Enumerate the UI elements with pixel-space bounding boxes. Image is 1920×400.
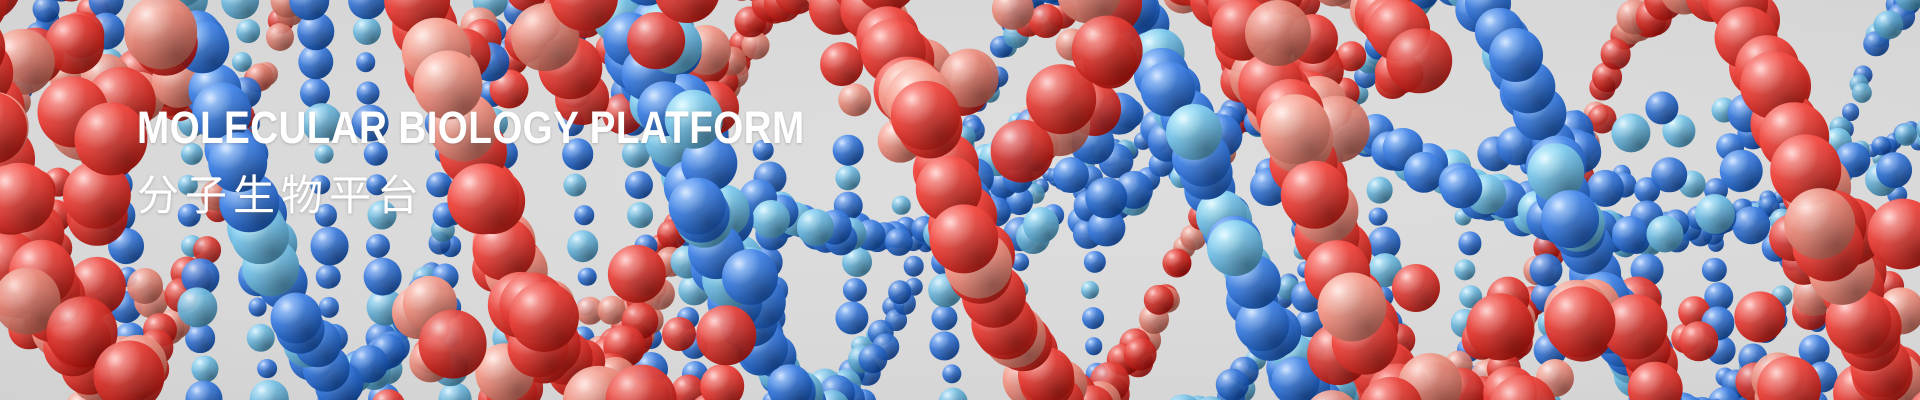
atom-sphere bbox=[178, 288, 217, 327]
atom-sphere bbox=[722, 249, 778, 305]
atom-sphere bbox=[903, 256, 924, 277]
atom-sphere bbox=[186, 381, 223, 400]
atom-sphere bbox=[1695, 194, 1735, 234]
atom-sphere bbox=[1392, 264, 1440, 312]
atom-sphere bbox=[942, 364, 961, 383]
atom-sphere bbox=[884, 228, 912, 256]
atom-sphere bbox=[1612, 216, 1648, 252]
atom-sphere bbox=[353, 17, 381, 45]
atom-sphere bbox=[1082, 307, 1104, 329]
atom-sphere bbox=[1124, 338, 1157, 371]
atom-sphere bbox=[348, 0, 386, 20]
atom-sphere bbox=[1454, 259, 1475, 280]
atom-sphere bbox=[1852, 83, 1872, 103]
atom-sphere bbox=[1162, 248, 1191, 277]
atom-sphere bbox=[1647, 215, 1684, 252]
atom-sphere bbox=[700, 364, 744, 400]
atom-sphere bbox=[221, 0, 259, 20]
atom-sphere bbox=[1876, 152, 1912, 188]
atom-sphere bbox=[192, 355, 219, 382]
atom-sphere bbox=[929, 204, 998, 273]
atom-sphere bbox=[1053, 157, 1089, 193]
atom-sphere bbox=[237, 20, 261, 44]
atom-sphere bbox=[186, 323, 216, 353]
atom-sphere bbox=[1874, 10, 1903, 39]
atom-sphere bbox=[1466, 293, 1533, 360]
atom-sphere bbox=[316, 264, 341, 289]
atom-sphere bbox=[1734, 291, 1785, 342]
atom-sphere bbox=[1029, 4, 1063, 38]
atom-sphere bbox=[930, 331, 959, 360]
atom-sphere bbox=[1216, 368, 1248, 400]
atom-sphere bbox=[1369, 207, 1388, 226]
atom-sphere bbox=[1318, 272, 1387, 341]
atom-sphere bbox=[1530, 253, 1563, 286]
atom-sphere bbox=[938, 388, 967, 400]
atom-sphere bbox=[1366, 177, 1393, 204]
atom-sphere bbox=[858, 344, 887, 373]
atom-sphere bbox=[932, 305, 957, 330]
atom-sphere bbox=[250, 380, 288, 400]
atom-sphere bbox=[1702, 258, 1726, 282]
atom-sphere bbox=[835, 301, 868, 334]
atom-sphere bbox=[1207, 220, 1263, 276]
atom-sphere bbox=[843, 278, 867, 302]
atom-sphere bbox=[246, 324, 274, 352]
atom-sphere bbox=[266, 23, 294, 51]
banner-subtitle-chinese: 分子生物平台 bbox=[137, 174, 913, 218]
atom-sphere bbox=[697, 305, 757, 365]
atom-sphere bbox=[1166, 104, 1222, 160]
atom-sphere bbox=[578, 267, 597, 286]
atom-sphere bbox=[1085, 337, 1103, 355]
atom-sphere bbox=[1541, 190, 1599, 248]
atom-sphere bbox=[662, 317, 696, 351]
atom-sphere bbox=[1023, 207, 1059, 243]
atom-sphere bbox=[1245, 0, 1311, 66]
atom-sphere bbox=[363, 257, 402, 296]
atom-sphere bbox=[1611, 113, 1650, 152]
banner-title: MOLECULAR BIOLOGY PLATFORM bbox=[137, 104, 805, 152]
atom-sphere bbox=[319, 297, 339, 317]
atom-sphere bbox=[509, 282, 579, 352]
atom-sphere bbox=[1280, 160, 1349, 229]
atom-sphere bbox=[271, 292, 322, 343]
atom-sphere bbox=[1386, 28, 1452, 94]
atom-sphere bbox=[1084, 251, 1106, 273]
atom-sphere bbox=[888, 281, 912, 305]
banner-text-overlay: MOLECULAR BIOLOGY PLATFORM 分子生物平台 bbox=[137, 104, 913, 218]
atom-sphere bbox=[1733, 207, 1771, 245]
atom-sphere bbox=[1720, 150, 1763, 193]
atom-sphere bbox=[567, 230, 599, 262]
atom-sphere bbox=[310, 227, 349, 266]
atom-sphere bbox=[1600, 39, 1631, 70]
atom-sphere bbox=[1489, 28, 1543, 82]
atom-sphere bbox=[1081, 281, 1099, 299]
atom-sphere bbox=[1072, 15, 1143, 86]
molecular-biology-banner: MOLECULAR BIOLOGY PLATFORM 分子生物平台 bbox=[0, 0, 1920, 400]
atom-sphere bbox=[356, 81, 379, 104]
atom-sphere bbox=[127, 268, 163, 304]
atom-sphere bbox=[1784, 188, 1856, 260]
atom-sphere bbox=[1545, 286, 1616, 357]
atom-sphere bbox=[366, 234, 390, 258]
atom-sphere bbox=[356, 52, 376, 72]
atom-sphere bbox=[257, 359, 277, 379]
atom-sphere bbox=[418, 309, 487, 378]
atom-sphere bbox=[1459, 232, 1482, 255]
atom-sphere bbox=[124, 0, 198, 69]
